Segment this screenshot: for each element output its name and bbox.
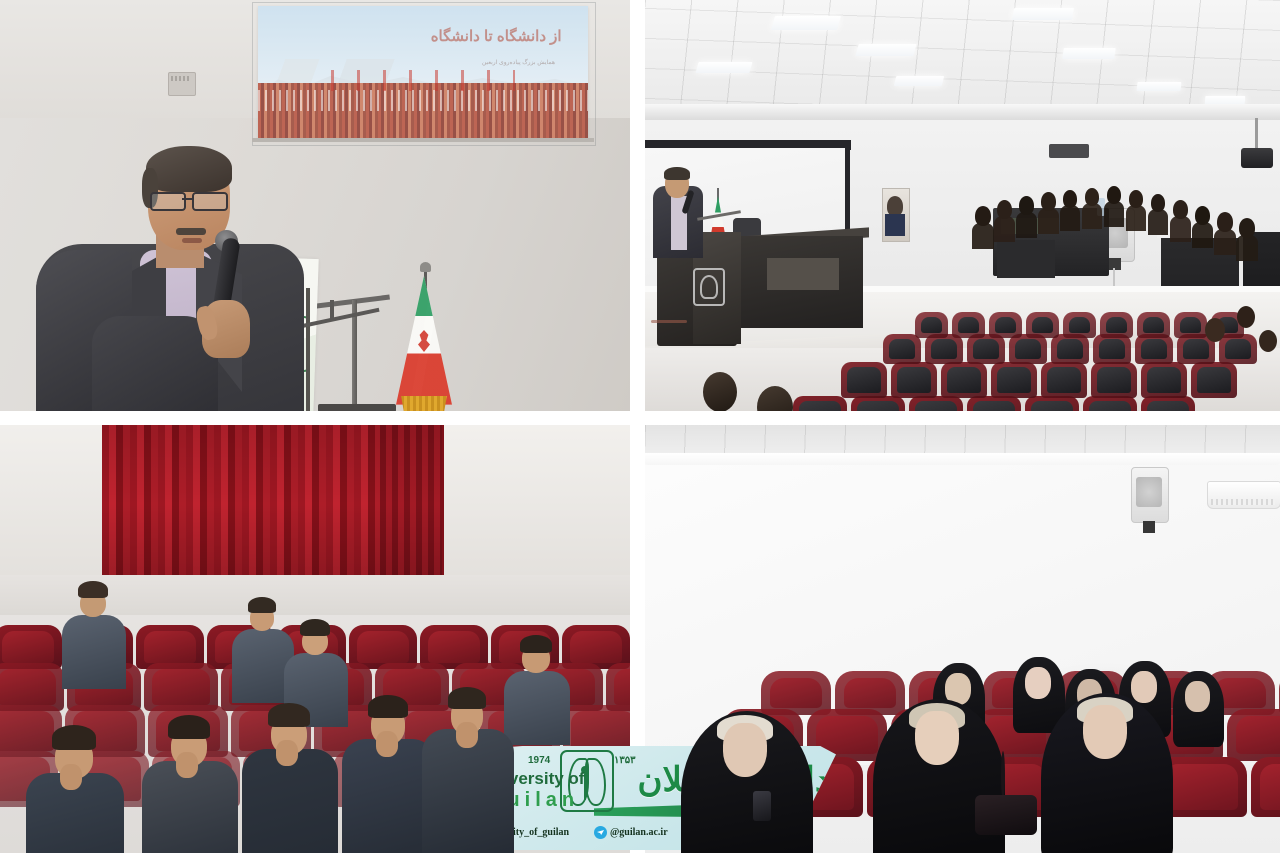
attendee-face <box>723 723 767 777</box>
seat-cushion <box>1099 339 1125 359</box>
projector-icon <box>1241 148 1273 168</box>
ceiling-light-icon <box>1062 48 1116 59</box>
attendee-head <box>1237 306 1255 328</box>
attendee-hair <box>168 715 210 739</box>
audience-member <box>1195 206 1210 225</box>
projection-screen: از دانشگاه تا دانشگاه همایش بزرگ پیاده‌ر… <box>258 6 588 139</box>
ceiling-light-icon <box>894 76 944 86</box>
audience-member <box>1085 188 1099 206</box>
seat-cushion <box>1097 367 1131 393</box>
attendee-head <box>757 386 793 411</box>
ceiling-vent <box>1049 144 1089 158</box>
audience-member <box>1041 192 1056 211</box>
podium-emblem-inner <box>700 275 718 299</box>
portrait-body <box>885 214 905 236</box>
handbag <box>975 795 1037 835</box>
audience-body <box>1214 229 1236 255</box>
audience-body <box>1082 203 1102 229</box>
telegram-handle-text: @guilan.ac.ir <box>610 827 668 838</box>
speaker-grille <box>1136 477 1162 507</box>
ceiling-light-icon <box>1012 8 1074 20</box>
seat-cushion <box>973 339 999 359</box>
audience-member <box>1107 186 1121 204</box>
wall-right <box>440 425 630 585</box>
audience-member <box>975 206 991 226</box>
seat-cushion <box>931 339 957 359</box>
speaker-hair <box>146 146 232 192</box>
speaker-bracket <box>1143 521 1155 533</box>
founding-year-gregorian: 1974 <box>528 755 550 766</box>
flag-finial <box>420 262 431 272</box>
flag-pole <box>306 288 310 411</box>
mic-stand-post <box>330 300 334 320</box>
seat-cushion <box>958 317 979 333</box>
seat-cushion <box>1106 317 1127 333</box>
glasses-bridge <box>182 198 194 200</box>
seat-cushion <box>921 317 942 333</box>
attendee-face <box>1185 681 1210 712</box>
seat-cushion <box>1147 401 1189 411</box>
portrait-face <box>887 196 903 216</box>
attendee-face <box>1131 671 1157 703</box>
slide-flags <box>331 70 516 91</box>
audience-body <box>1038 208 1059 234</box>
attendee-torso <box>62 615 126 689</box>
cabinet-lower <box>997 240 1055 278</box>
photo-collage-stage: از دانشگاه تا دانشگاه همایش بزرگ پیاده‌ر… <box>0 0 1280 853</box>
seat-cushion <box>1089 401 1131 411</box>
attendee-head <box>703 372 737 411</box>
attendee-torso <box>504 671 570 745</box>
audience-body <box>1170 216 1191 242</box>
seat-cushion <box>0 711 54 751</box>
attendee-face <box>1083 705 1127 759</box>
founding-year-persian: ۱۳۵۳ <box>614 755 635 766</box>
audience-body <box>1236 235 1258 261</box>
seat-cushion <box>1031 401 1073 411</box>
lecture-hall-wide-photo <box>645 0 1280 411</box>
audience-body <box>1016 212 1037 238</box>
seat-cushion <box>1032 317 1053 333</box>
seat-cushion <box>844 678 896 708</box>
seat-cushion <box>152 669 210 705</box>
seat-cushion <box>357 631 409 663</box>
seat-cushion <box>1164 764 1238 810</box>
seat-cushion <box>1015 339 1041 359</box>
seat-cushion <box>614 669 630 705</box>
seat-cushion <box>973 401 1015 411</box>
ac-vent <box>1211 499 1275 505</box>
seat-cushion <box>570 631 622 663</box>
slide-crowd-highlights <box>258 90 588 111</box>
seat-cushion <box>1069 317 1090 333</box>
attendee-hand <box>456 722 478 748</box>
female-audience-photo <box>645 425 1280 853</box>
seat-cushion <box>1143 317 1164 333</box>
audience-body <box>994 216 1015 242</box>
speaker-bracket <box>1109 258 1121 270</box>
seat-cushion <box>816 716 878 754</box>
attendee-hair <box>78 581 108 598</box>
speaker-hair <box>664 167 690 180</box>
audience-body <box>1192 222 1213 248</box>
attendee-head <box>1259 330 1277 352</box>
seat-cushion <box>1236 716 1280 754</box>
attendee-hand <box>176 752 198 778</box>
attendee-hair <box>520 635 552 653</box>
seating-area <box>645 665 1280 853</box>
seat-cushion <box>144 631 196 663</box>
audience-member <box>997 200 1012 219</box>
ceiling-light-icon <box>855 44 916 56</box>
seat-cushion <box>897 367 931 393</box>
seat-cushion <box>770 678 822 708</box>
ceiling-beam <box>645 104 1280 120</box>
screen-bottom-bar <box>252 138 594 142</box>
attendee-hand <box>376 731 398 757</box>
ceiling-light-icon <box>1137 82 1182 91</box>
telegram-handle[interactable]: @guilan.ac.ir <box>594 826 668 839</box>
attendee-hair <box>368 695 408 718</box>
audience-member <box>1129 190 1143 208</box>
attendee-face <box>1025 667 1051 699</box>
seat-cushion <box>1141 339 1167 359</box>
auditorium-seating <box>645 300 1280 411</box>
seat-cushion <box>1197 367 1231 393</box>
audience-body <box>1060 205 1080 231</box>
seat-cushion <box>2 631 54 663</box>
audience-member <box>1239 218 1255 238</box>
ceiling-light-icon <box>771 16 841 30</box>
attendee-face <box>915 711 959 765</box>
speaker-mustache <box>176 228 206 235</box>
seat-cushion <box>428 631 480 663</box>
flag-fringe <box>398 396 450 411</box>
attendee-hair <box>300 619 330 636</box>
audience-member <box>1019 196 1034 215</box>
audience-body <box>1126 205 1146 231</box>
attendee-head <box>1205 318 1225 342</box>
mobile-phone <box>753 791 771 821</box>
attendee-hair <box>248 597 276 613</box>
attendee-hand <box>60 764 82 790</box>
sensor-grille <box>171 76 191 81</box>
glasses-lens-left <box>150 192 186 211</box>
seat-cushion <box>947 367 981 393</box>
wall-left <box>0 425 108 595</box>
audience-member <box>1217 212 1233 232</box>
desk-inner-shelf <box>767 258 839 290</box>
seat-cushion <box>1260 764 1280 810</box>
attendee-hair <box>268 703 310 727</box>
seat-cushion <box>1180 317 1201 333</box>
slide-subtitle-text: همایش بزرگ پیاده‌روی اربعین <box>383 59 555 66</box>
seat-cushion <box>889 339 915 359</box>
audience-body <box>972 223 994 249</box>
projector-mount <box>1255 118 1258 150</box>
audience-member <box>1063 190 1077 208</box>
seat-cushion <box>799 401 841 411</box>
ceiling-light-icon <box>695 62 752 73</box>
audience-member <box>1151 194 1165 212</box>
seat-cushion <box>1057 339 1083 359</box>
audience-member <box>1173 200 1188 219</box>
seat-cushion <box>847 367 881 393</box>
seat-cushion <box>1147 367 1181 393</box>
attendee-body <box>422 729 514 853</box>
seat-cushion <box>0 669 56 705</box>
slide-title-text: از دانشگاه تا دانشگاه <box>364 27 562 62</box>
seat-cushion <box>1225 339 1251 359</box>
speaker-mouth <box>182 238 202 243</box>
seat-cushion <box>1047 367 1081 393</box>
telegram-icon <box>594 826 607 839</box>
attendee-hair <box>52 725 96 750</box>
attendee-hair <box>448 687 486 709</box>
attendee-hand <box>276 740 298 766</box>
audience-body <box>1148 209 1168 235</box>
seat-cushion <box>857 401 899 411</box>
seat-cushion <box>1183 339 1209 359</box>
screen-stand-base <box>318 404 396 411</box>
seat-cushion <box>571 711 630 751</box>
speaker-at-podium-photo: از دانشگاه تا دانشگاه همایش بزرگ پیاده‌ر… <box>0 0 630 411</box>
glasses-lens-right <box>192 192 228 211</box>
handbag-strap <box>1001 751 1005 799</box>
seat-cushion <box>995 317 1016 333</box>
seat-cushion <box>997 367 1031 393</box>
seat-cushion <box>915 401 957 411</box>
audience-body <box>1104 201 1124 227</box>
